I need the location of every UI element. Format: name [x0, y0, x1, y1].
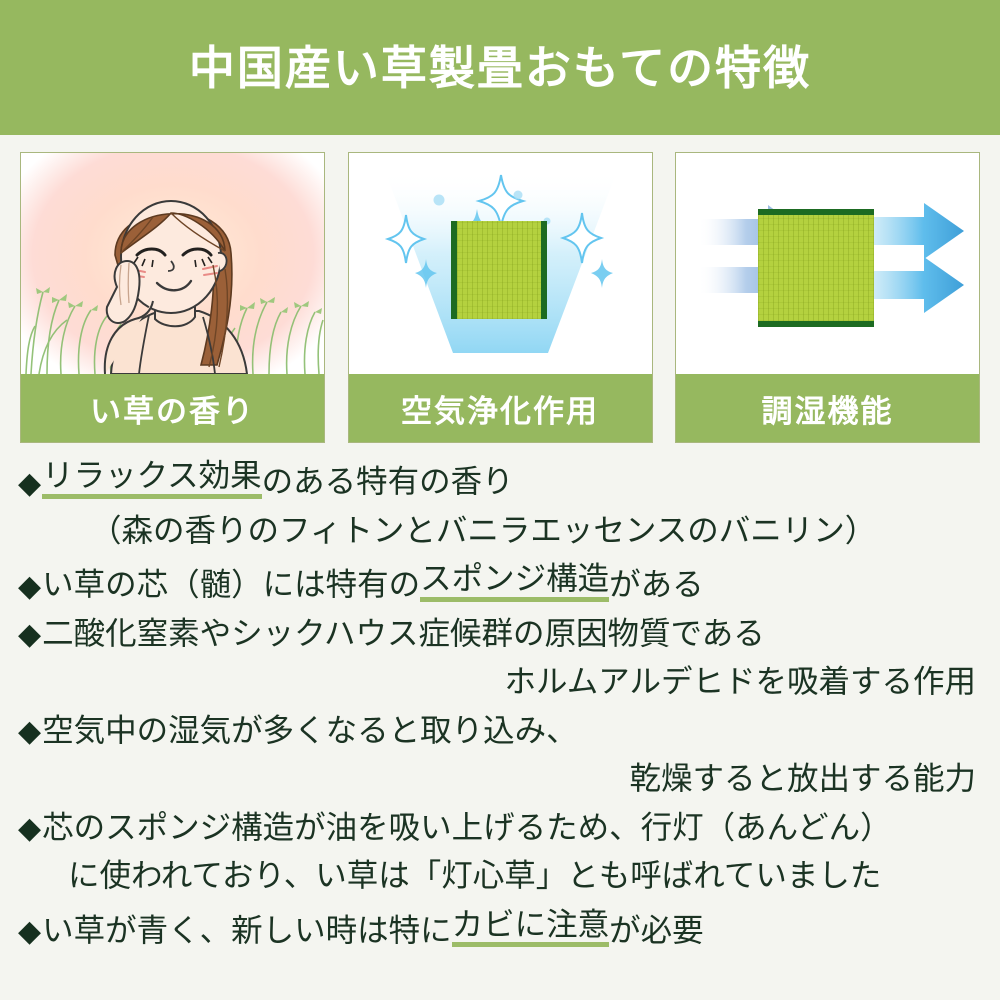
page-header-banner: 中国産い草製畳おもての特徴: [0, 0, 1000, 135]
bullet-continuation-text: （森の香りのフィトンとバニラエッセンスのバニリン）: [90, 516, 876, 548]
bullet-text: い草が青く、新しい時は特に: [42, 916, 452, 948]
humidity-control-illustration: [676, 153, 979, 374]
bullet-text: がある: [609, 570, 704, 602]
bullet-item: ◆ リラックス効果 のある特有の香り: [18, 461, 982, 499]
bullet-marker-icon: ◆: [18, 572, 41, 602]
bullet-item: ◆ 空気中の湿気が多くなると取り込み、: [18, 716, 982, 748]
page-title: 中国産い草製畳おもての特徴: [189, 45, 811, 91]
feature-card-air-purification: 空気浄化作用: [348, 152, 653, 443]
bullet-marker-icon: ◆: [18, 814, 41, 844]
bullet-text: 芯のスポンジ構造が油を吸い上げるため、行灯（あんどん）: [42, 813, 892, 845]
bullet-continuation-text: 乾燥すると放出する能力: [629, 764, 976, 796]
feature-card-label-fragrance: い草の香り: [21, 374, 324, 442]
bullet-continuation: （森の香りのフィトンとバニラエッセンスのバニリン）: [18, 516, 982, 548]
bullet-item: ◆ 二酸化窒素やシックハウス症候群の原因物質である: [18, 619, 982, 651]
bullet-item: ◆ 芯のスポンジ構造が油を吸い上げるため、行灯（あんどん）: [18, 813, 982, 845]
bullet-item: ◆ い草の芯（髄）には特有の スポンジ構造 がある: [18, 564, 982, 602]
bullet-marker-icon: ◆: [18, 917, 41, 947]
fragrance-illustration: [21, 153, 324, 374]
bullet-text: 空気中の湿気が多くなると取り込み、: [42, 716, 578, 748]
bullet-continuation: ホルムアルデヒドを吸着する作用: [18, 667, 982, 699]
bullet-marker-icon: ◆: [18, 717, 41, 747]
bullet-item: ◆ い草が青く、新しい時は特に カビに注意 が必要: [18, 910, 982, 948]
bullet-text-highlight: リラックス効果: [42, 461, 262, 499]
bullet-marker-icon: ◆: [18, 469, 41, 499]
relaxing-woman-icon: [75, 169, 271, 374]
feature-card-label-humidity-control: 調湿機能: [676, 374, 979, 442]
feature-card-label-air-purification: 空気浄化作用: [349, 374, 652, 442]
tatami-mat-icon: [451, 221, 547, 319]
bullet-text-highlight: カビに注意: [452, 910, 610, 948]
bullet-text-highlight: スポンジ構造: [420, 564, 609, 602]
feature-card-row: い草の香り: [0, 135, 1000, 443]
bullet-text: 二酸化窒素やシックハウス症候群の原因物質である: [42, 619, 765, 651]
bullet-marker-icon: ◆: [18, 620, 41, 650]
feature-card-fragrance: い草の香り: [20, 152, 325, 443]
feature-description-list: ◆ リラックス効果 のある特有の香り （森の香りのフィトンとバニラエッセンスのバ…: [0, 443, 1000, 947]
feature-card-humidity-control: 調湿機能: [675, 152, 980, 443]
bullet-text: が必要: [609, 916, 704, 948]
bullet-text: い草の芯（髄）には特有の: [42, 570, 420, 602]
air-purification-illustration: [349, 153, 652, 374]
bullet-continuation: 乾燥すると放出する能力: [18, 764, 982, 796]
tatami-mat-icon: [758, 209, 874, 327]
bullet-continuation: に使われており、い草は「灯心草」とも呼ばれていました: [18, 861, 982, 893]
bullet-continuation-text: に使われており、い草は「灯心草」とも呼ばれていました: [68, 861, 881, 893]
bullet-continuation-text: ホルムアルデヒドを吸着する作用: [504, 667, 976, 699]
tatami-feature-infographic: { "header": { "title": "中国産い草製畳おもての特徴", …: [0, 0, 1000, 1000]
bullet-text: のある特有の香り: [262, 467, 514, 499]
